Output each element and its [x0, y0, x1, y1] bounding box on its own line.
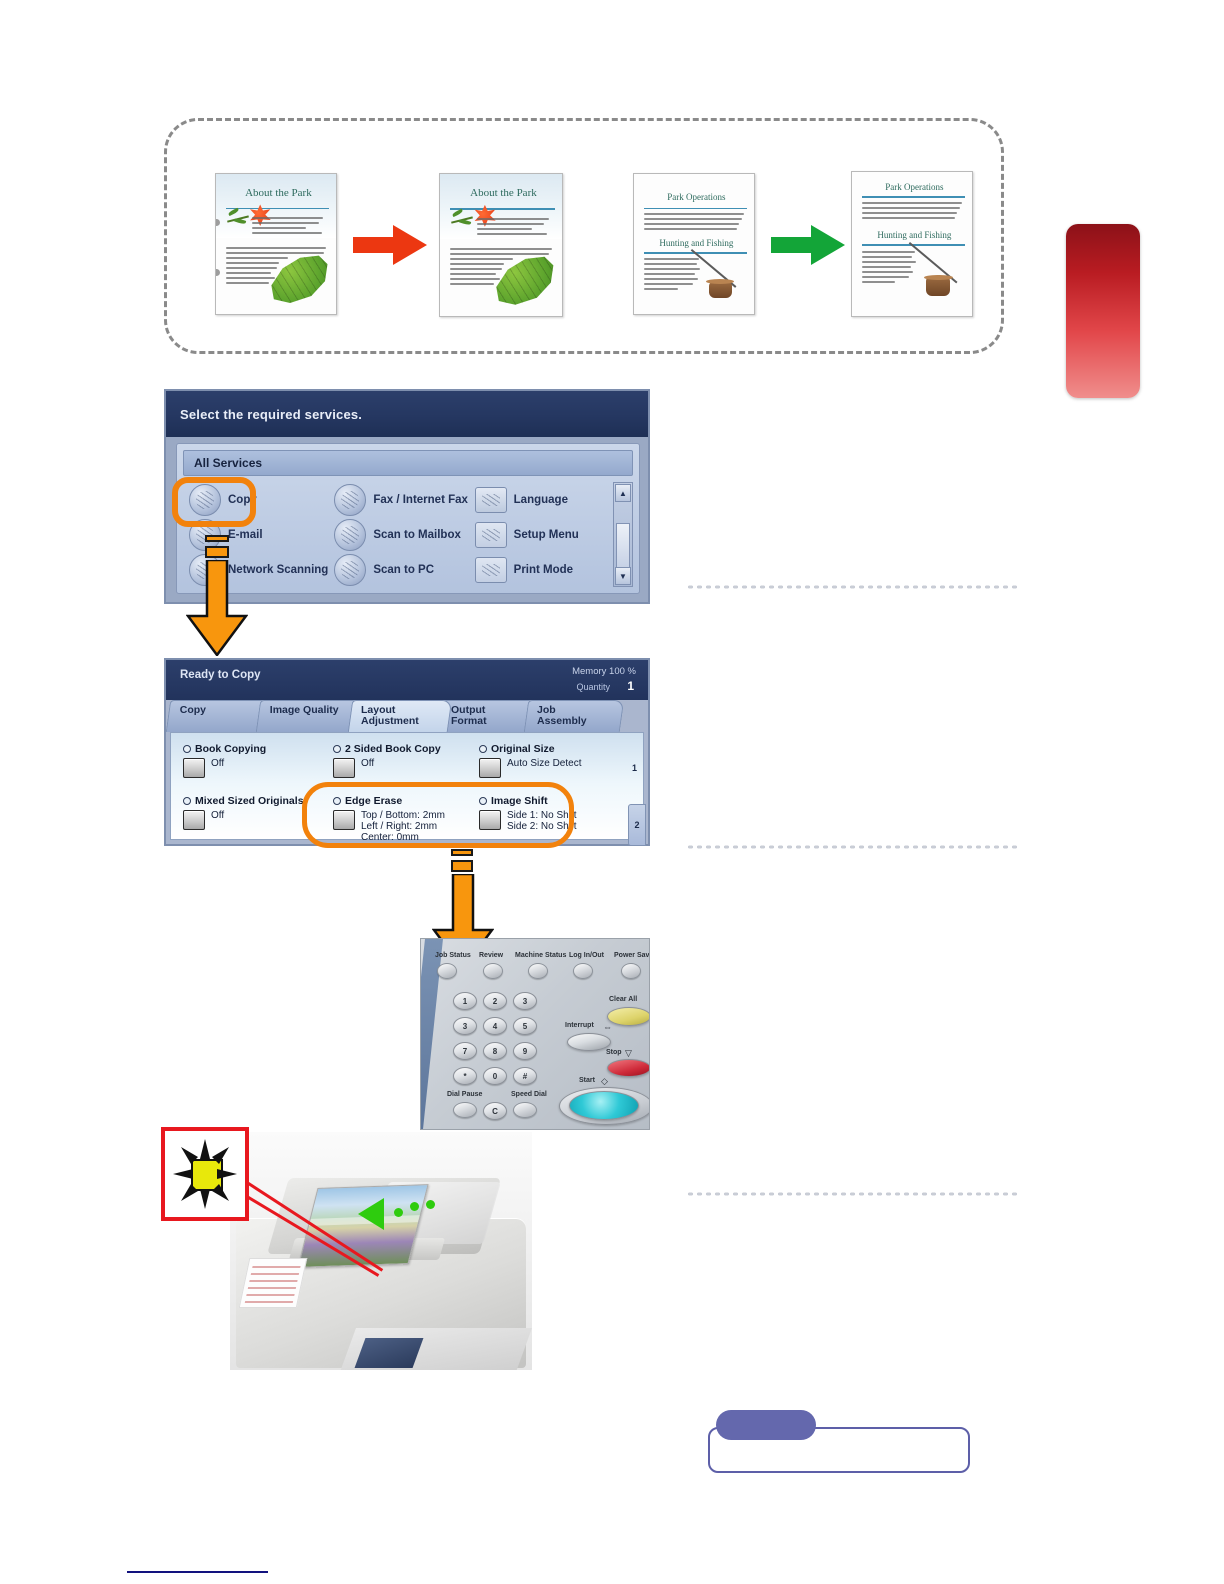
- section-separator: [686, 584, 1018, 590]
- key-1[interactable]: 1: [453, 992, 477, 1010]
- doc-thumbnail-copy-front: About the Park: [439, 173, 563, 317]
- key-9[interactable]: 9: [513, 1042, 537, 1060]
- button-interrupt[interactable]: [567, 1033, 611, 1051]
- fishing-rod-art: [689, 247, 747, 303]
- service-button-scan-to-pc[interactable]: Scan to PC: [328, 552, 468, 587]
- service-label: Scan to PC: [373, 564, 434, 576]
- label-power-saver: Power Saver: [614, 952, 650, 959]
- button-clear-all[interactable]: [607, 1007, 650, 1026]
- stop-icon: ▽: [625, 1048, 632, 1059]
- document-flow-diagram: About the Park About the Park: [164, 118, 1004, 354]
- button-dial-pause[interactable]: [453, 1102, 477, 1118]
- arrow-green: [771, 225, 845, 265]
- label-dial-pause: Dial Pause: [447, 1091, 482, 1098]
- key-4[interactable]: 4: [483, 1017, 507, 1035]
- orange-connector-segment: [205, 546, 229, 558]
- radio-dot-icon: [333, 745, 341, 753]
- option-value: Auto Size Detect: [507, 758, 581, 778]
- scan-to-pc-icon: [334, 554, 366, 586]
- tab-label: Output Format: [451, 705, 519, 727]
- key-3[interactable]: 3: [513, 992, 537, 1010]
- highlight-ring-edge-erase-image-shift: [302, 782, 574, 848]
- button-power-saver[interactable]: [621, 963, 641, 979]
- tab-output-format[interactable]: Output Format: [438, 700, 538, 732]
- page-tab-2[interactable]: 2: [628, 804, 646, 846]
- button-job-status[interactable]: [437, 963, 457, 979]
- arrow-red: [353, 225, 427, 265]
- orange-connector-segment: [451, 849, 473, 856]
- key-2[interactable]: 2: [483, 992, 507, 1010]
- tab-job-assembly[interactable]: Job Assembly: [524, 700, 624, 732]
- services-title: Select the required services.: [166, 391, 648, 437]
- section-separator: [686, 844, 1018, 850]
- section-separator: [686, 1191, 1018, 1197]
- option-original-size[interactable]: Original Size Auto Size Detect: [479, 743, 581, 778]
- print-mode-icon: [475, 557, 507, 583]
- label-job-status: Job Status: [435, 952, 471, 959]
- service-button-fax[interactable]: Fax / Internet Fax: [328, 482, 468, 517]
- key-hash[interactable]: #: [513, 1067, 537, 1085]
- setup-menu-icon: [475, 522, 507, 548]
- label-start: Start: [579, 1077, 595, 1084]
- option-mixed-sized-originals[interactable]: Mixed Sized Originals Off: [183, 795, 304, 830]
- warning-label: [239, 1258, 308, 1308]
- section-color-tab: [1066, 224, 1140, 398]
- key-clear[interactable]: C: [483, 1102, 507, 1120]
- tab-copy[interactable]: Copy: [166, 700, 270, 732]
- doc-body-text: [477, 218, 554, 238]
- doc-body-text: [252, 217, 328, 237]
- memory-indicator: Memory 100 %: [572, 666, 636, 677]
- key-8[interactable]: 8: [483, 1042, 507, 1060]
- option-button[interactable]: [479, 758, 501, 778]
- option-button[interactable]: [183, 758, 205, 778]
- key-0[interactable]: 0: [483, 1067, 507, 1085]
- doc-body-text: [862, 202, 964, 222]
- footer-rule: [127, 1571, 268, 1573]
- doc-title: About the Park: [452, 187, 555, 199]
- fax-icon: [334, 484, 366, 516]
- option-value: Off: [361, 758, 374, 778]
- service-label: Language: [514, 494, 568, 506]
- green-dot: [394, 1208, 403, 1217]
- doc-title: Park Operations: [646, 192, 747, 202]
- status-text: Ready to Copy: [180, 669, 261, 681]
- button-start[interactable]: [569, 1091, 639, 1120]
- doc-title-rule: [644, 208, 747, 210]
- service-button-print-mode[interactable]: Print Mode: [469, 552, 609, 587]
- option-2-sided-book-copy[interactable]: 2 Sided Book Copy Off: [333, 743, 441, 778]
- orange-connector-segment: [451, 860, 473, 872]
- doc-title: Park Operations: [864, 182, 965, 192]
- orange-arrow-down-1: [186, 560, 248, 656]
- button-review[interactable]: [483, 963, 503, 979]
- label-speed-dial: Speed Dial: [511, 1091, 547, 1098]
- scroll-down-icon[interactable]: ▼: [615, 567, 631, 585]
- option-book-copying[interactable]: Book Copying Off: [183, 743, 266, 778]
- tab-label: Job Assembly: [537, 705, 605, 727]
- scrollbar-thumb[interactable]: [616, 523, 630, 573]
- flash-callout-box: [161, 1127, 249, 1221]
- option-button[interactable]: [333, 758, 355, 778]
- green-dot: [426, 1200, 435, 1209]
- service-button-setup-menu[interactable]: Setup Menu: [469, 517, 609, 552]
- tab-label: Image Quality: [270, 705, 344, 716]
- radio-dot-icon: [479, 745, 487, 753]
- option-title: 2 Sided Book Copy: [333, 743, 441, 755]
- orange-connector-segment: [205, 535, 229, 542]
- interrupt-icon: ⇔: [603, 1022, 612, 1032]
- doc-title: About the Park: [228, 187, 329, 199]
- tab-label: Layout Adjustment: [361, 705, 433, 727]
- label-clear-all: Clear All: [609, 996, 637, 1003]
- service-label: E-mail: [228, 529, 263, 541]
- label-stop: Stop: [606, 1049, 622, 1056]
- option-value: Off: [211, 758, 224, 778]
- scroll-up-icon[interactable]: ▲: [615, 484, 631, 502]
- radio-dot-icon: [183, 745, 191, 753]
- copier-photo: [230, 1132, 532, 1370]
- service-button-language[interactable]: Language: [469, 482, 609, 517]
- radio-dot-icon: [183, 797, 191, 805]
- highlight-ring-copy: [172, 477, 256, 527]
- option-title: Mixed Sized Originals: [183, 795, 304, 807]
- service-label: Scan to Mailbox: [373, 529, 461, 541]
- key-asterisk[interactable]: *: [453, 1067, 477, 1085]
- doc-body-text: [644, 213, 746, 233]
- label-machine-status: Machine Status: [515, 952, 566, 959]
- page-indicator-1: 1: [632, 763, 637, 773]
- label-review: Review: [479, 952, 503, 959]
- label-interrupt: Interrupt: [565, 1022, 594, 1029]
- button-speed-dial[interactable]: [513, 1102, 537, 1118]
- leaf-blade: [227, 208, 238, 216]
- doc-thumbnail-copy-back: Park Operations Hunting and Fishing: [851, 171, 973, 317]
- service-label: Setup Menu: [514, 529, 579, 541]
- option-title: Original Size: [479, 743, 581, 755]
- quantity-value: 1: [627, 679, 634, 693]
- page-indicator-2: 2: [634, 820, 639, 830]
- all-services-group-label: All Services: [183, 450, 633, 476]
- language-icon: [475, 487, 507, 513]
- machine-control-panel[interactable]: Job Status Review Machine Status Log In/…: [420, 938, 650, 1130]
- service-button-scan-to-mailbox[interactable]: Scan to Mailbox: [328, 517, 468, 552]
- service-label: Print Mode: [514, 564, 573, 576]
- fishing-rod-art: [907, 241, 967, 301]
- doc-title-rule: [862, 196, 965, 198]
- layout-status-bar: Ready to Copy Memory 100 % Quantity 1: [166, 660, 648, 700]
- service-label: Fax / Internet Fax: [373, 494, 468, 506]
- button-machine-status[interactable]: [528, 963, 548, 979]
- quantity-label: Quantity: [576, 682, 610, 692]
- green-pointer-arrow: [358, 1198, 384, 1230]
- key-4-row2-a[interactable]: 3: [453, 1017, 477, 1035]
- scan-mailbox-icon: [334, 519, 366, 551]
- tree-stump: [709, 282, 732, 299]
- doc-thumbnail-original-front: About the Park: [215, 173, 337, 315]
- doc-thumbnail-original-back: Park Operations Hunting and Fishing: [633, 173, 755, 315]
- option-title: Book Copying: [183, 743, 266, 755]
- start-icon: ◇: [601, 1076, 608, 1087]
- tree-stump: [926, 277, 950, 295]
- green-dot: [410, 1202, 419, 1211]
- option-value: Off: [211, 810, 224, 830]
- option-button[interactable]: [183, 810, 205, 830]
- key-7[interactable]: 7: [453, 1042, 477, 1060]
- doc-subtitle: Hunting and Fishing: [864, 230, 965, 240]
- tab-image-quality[interactable]: Image Quality: [256, 700, 362, 732]
- layout-tab-strip[interactable]: Copy Image Quality Layout Adjustment Out…: [168, 700, 646, 732]
- leaf-blade: [451, 208, 462, 216]
- leaf-blade: [234, 218, 246, 225]
- tab-label: Copy: [180, 705, 252, 716]
- tab-layout-adjustment[interactable]: Layout Adjustment: [348, 700, 452, 732]
- flash-starburst-icon: [171, 1137, 239, 1211]
- services-scrollbar[interactable]: ▲ ▼: [613, 482, 633, 587]
- key-5[interactable]: 5: [513, 1017, 537, 1035]
- copier-touchscreen: [355, 1338, 424, 1368]
- note-callout-tab: [716, 1410, 816, 1440]
- button-log-in-out[interactable]: [573, 963, 593, 979]
- label-log-in-out: Log In/Out: [569, 952, 604, 959]
- button-stop[interactable]: [607, 1059, 650, 1077]
